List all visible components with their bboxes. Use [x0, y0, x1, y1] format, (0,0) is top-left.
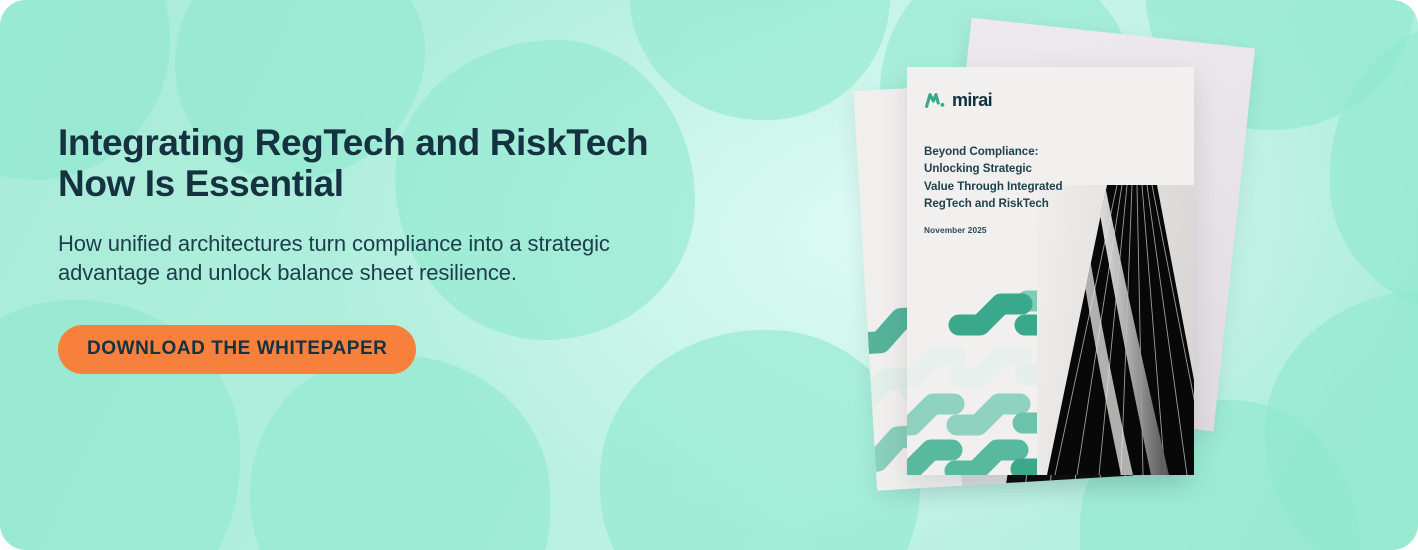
cover-header: mirai Beyond Compliance: Unlocking Strat… — [924, 90, 1177, 235]
cover-title-line-2: Unlocking Strategic — [924, 160, 1177, 177]
download-whitepaper-button[interactable]: DOWNLOAD THE WHITEPAPER — [58, 325, 416, 374]
banner-copy: Integrating RegTech and RiskTech Now Is … — [58, 122, 698, 374]
mirai-logo-wordmark: mirai — [952, 90, 992, 111]
headline-line-2: Now Is Essential — [58, 163, 698, 204]
promo-banner: Integrating RegTech and RiskTech Now Is … — [0, 0, 1418, 550]
whitepaper-stack[interactable]: mirai Beyond Compliance: Unlocking Strat… — [845, 22, 1245, 522]
cover-date: November 2025 — [924, 212, 1177, 235]
mirai-logo-mark-icon — [924, 92, 946, 110]
cover-title-line-1: Beyond Compliance: — [924, 143, 1177, 160]
headline-line-1: Integrating RegTech and RiskTech — [58, 122, 648, 163]
mirai-logo: mirai — [924, 90, 1177, 111]
cover-title-line-4: RegTech and RiskTech — [924, 195, 1177, 212]
banner-subhead: How unified architectures turn complianc… — [58, 205, 633, 288]
cover-title-line-3: Value Through Integrated — [924, 178, 1177, 195]
banner-headline: Integrating RegTech and RiskTech Now Is … — [58, 122, 698, 205]
whitepaper-front-cover[interactable]: mirai Beyond Compliance: Unlocking Strat… — [907, 67, 1194, 475]
background-blob — [250, 355, 550, 550]
cover-title: Beyond Compliance: Unlocking Strategic V… — [924, 111, 1177, 212]
